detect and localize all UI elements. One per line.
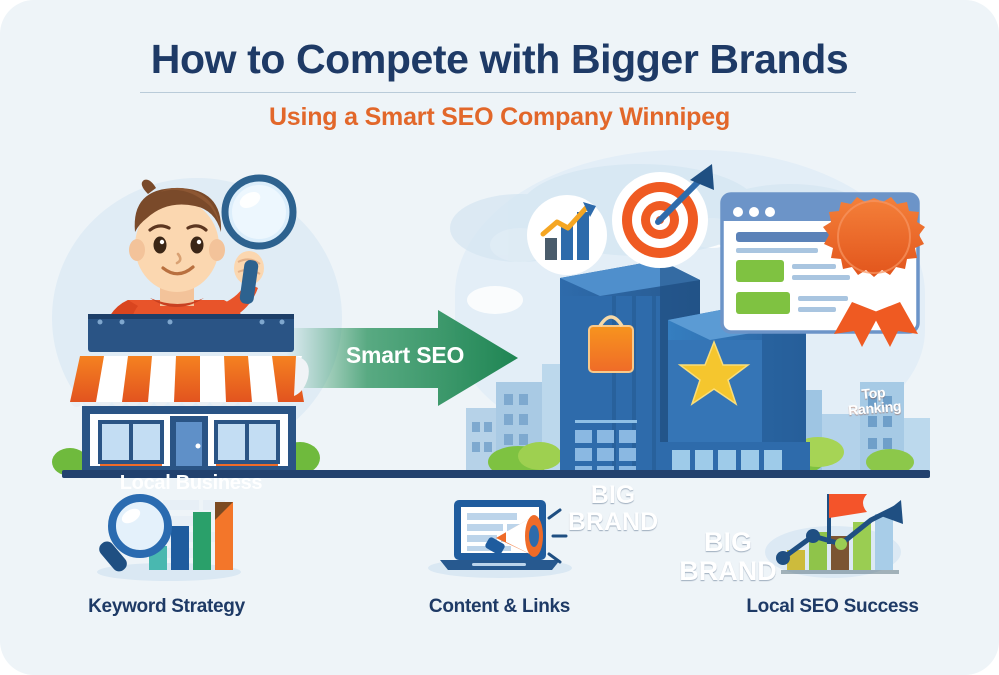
- feature-row: Keyword Strategy: [0, 488, 999, 638]
- scene-svg: [0, 150, 999, 485]
- infographic-canvas: How to Compete with Bigger Brands Using …: [0, 0, 999, 675]
- big-brand-label-right: BIG BRAND: [675, 528, 781, 585]
- main-illustration: Local Business Smart SEO BIG BRAND BIG B…: [0, 150, 999, 485]
- feature-label-local-seo-success: Local SEO Success: [666, 596, 999, 618]
- magnifier-bar-chart-icon: [77, 488, 257, 584]
- big-brand-left-line2: BRAND: [565, 509, 661, 536]
- shopping-bag-icon: [589, 317, 633, 372]
- big-brand-right-line2: BRAND: [675, 557, 781, 586]
- store-sign-label: Local Business: [96, 472, 286, 495]
- browser-dots: [733, 207, 775, 217]
- arrow-label: Smart SEO: [330, 342, 480, 369]
- serp-highlight-1: [736, 260, 784, 282]
- bar-chart-growth-icon: [527, 195, 607, 275]
- feature-label-content-links: Content & Links: [333, 596, 666, 618]
- big-brand-label-left: BIG BRAND: [565, 482, 661, 535]
- big-brand-left-line1: BIG: [565, 482, 661, 509]
- header: How to Compete with Bigger Brands Using …: [0, 0, 999, 150]
- title-divider: [140, 92, 856, 93]
- magnifier-icon: [225, 178, 293, 305]
- laptop-megaphone-icon: [410, 488, 590, 584]
- serp-highlight-2: [736, 292, 790, 314]
- local-business-storefront: [70, 314, 309, 472]
- feature-label-keyword-strategy: Keyword Strategy: [0, 596, 333, 618]
- page-subtitle: Using a Smart SEO Company Winnipeg: [0, 103, 999, 132]
- page-title: How to Compete with Bigger Brands: [0, 36, 999, 83]
- big-brand-right-line1: BIG: [675, 528, 781, 557]
- arrow-container: Smart SEO: [286, 320, 518, 402]
- feature-keyword-strategy: Keyword Strategy: [0, 488, 333, 638]
